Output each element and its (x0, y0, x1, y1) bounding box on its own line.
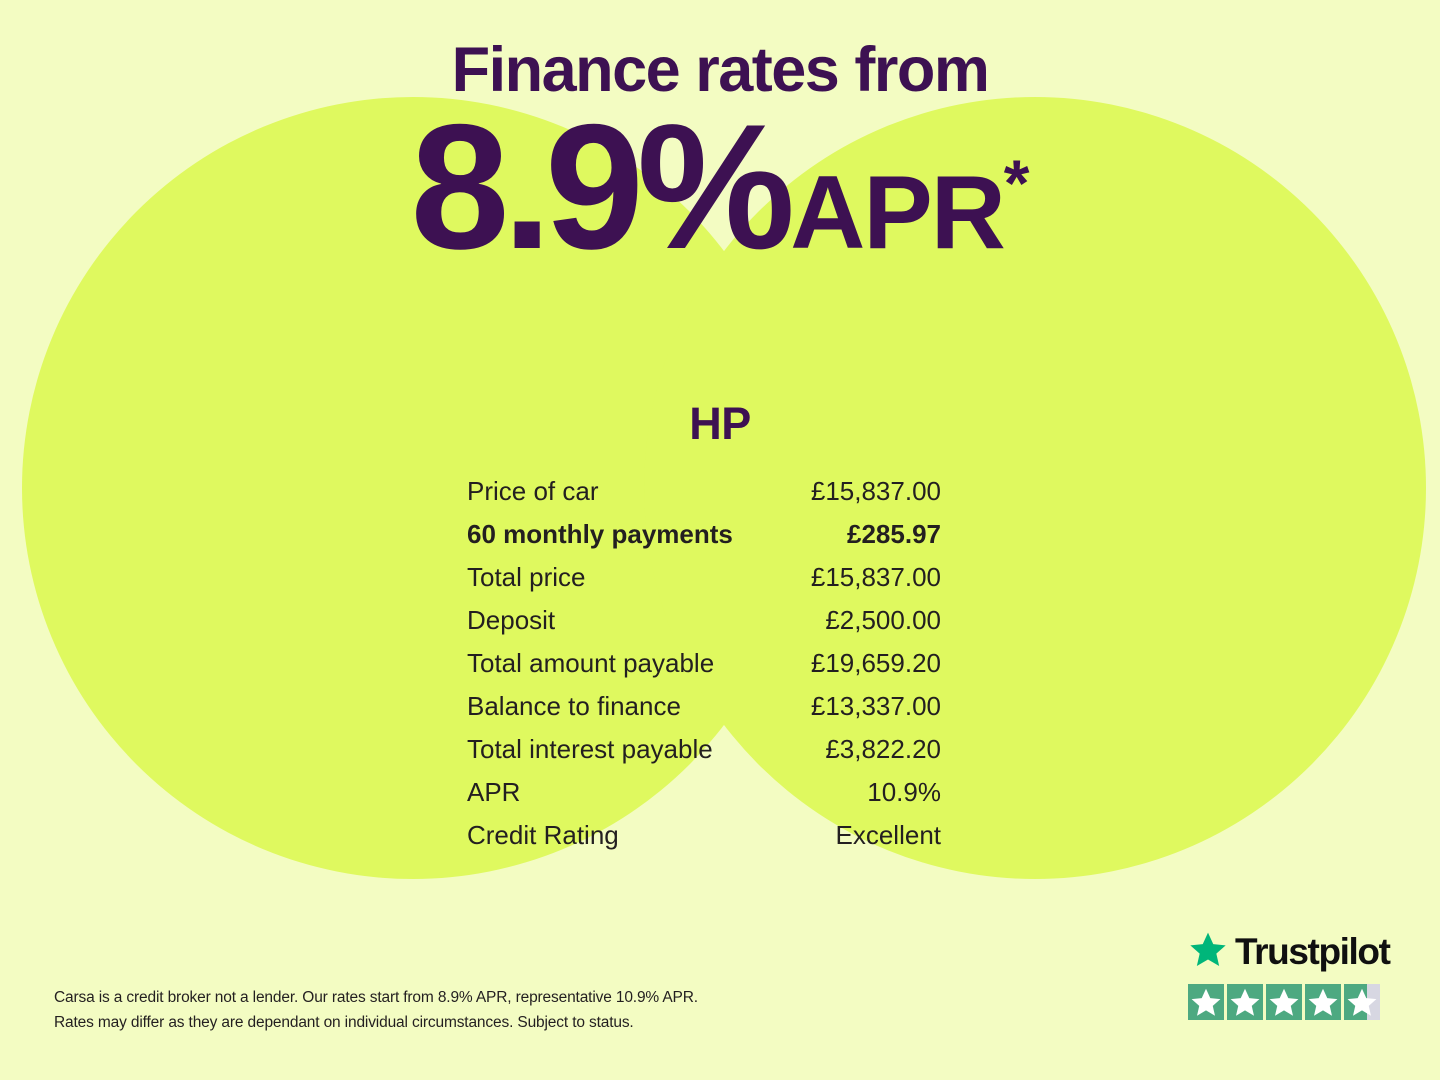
row-label: 60 monthly payments (467, 519, 733, 550)
row-value: £19,659.20 (811, 648, 941, 679)
star-icon (1188, 984, 1224, 1020)
page-title: HP (0, 398, 1440, 450)
row-value: £15,837.00 (811, 562, 941, 593)
row-label: Balance to finance (467, 691, 681, 722)
star-icon (1188, 930, 1228, 975)
star-icon (1266, 984, 1302, 1020)
row-value: £285.97 (847, 519, 941, 550)
promo-canvas: Finance rates from 8.9% APR * HP Price o… (0, 0, 1440, 1080)
table-row: Credit RatingExcellent (467, 820, 941, 863)
trustpilot-wordmark: Trustpilot (1235, 931, 1390, 973)
headline-rate-row: 8.9% APR * (0, 98, 1440, 276)
table-row: 60 monthly payments£285.97 (467, 519, 941, 562)
apr-rate-value: 8.9% (411, 98, 789, 276)
row-value: £13,337.00 (811, 691, 941, 722)
trustpilot-star-row (1188, 984, 1388, 1020)
row-label: Total price (467, 562, 586, 593)
row-label: Price of car (467, 476, 599, 507)
row-value: £2,500.00 (825, 605, 941, 636)
headline-block: Finance rates from 8.9% APR * (0, 0, 1440, 276)
table-row: APR10.9% (467, 777, 941, 820)
disclaimer-line-2: Rates may differ as they are dependant o… (54, 1010, 814, 1035)
row-value: £3,822.20 (825, 734, 941, 765)
star-icon (1227, 984, 1263, 1020)
table-row: Balance to finance£13,337.00 (467, 691, 941, 734)
disclaimer-text: Carsa is a credit broker not a lender. O… (54, 985, 814, 1035)
row-value: 10.9% (867, 777, 941, 808)
row-label: Deposit (467, 605, 555, 636)
apr-rate-unit: APR (790, 161, 1004, 265)
disclaimer-line-1: Carsa is a credit broker not a lender. O… (54, 985, 814, 1010)
row-value: £15,837.00 (811, 476, 941, 507)
table-row: Deposit£2,500.00 (467, 605, 941, 648)
row-value: Excellent (836, 820, 942, 851)
finance-breakdown-table: Price of car£15,837.0060 monthly payment… (467, 476, 941, 863)
apr-asterisk: * (1004, 150, 1030, 216)
table-row: Total amount payable£19,659.20 (467, 648, 941, 691)
row-label: Total interest payable (467, 734, 713, 765)
star-icon (1305, 984, 1341, 1020)
table-row: Price of car£15,837.00 (467, 476, 941, 519)
row-label: Total amount payable (467, 648, 714, 679)
row-label: Credit Rating (467, 820, 619, 851)
row-label: APR (467, 777, 520, 808)
table-row: Total interest payable£3,822.20 (467, 734, 941, 777)
table-row: Total price£15,837.00 (467, 562, 941, 605)
trustpilot-brand: Trustpilot (1188, 928, 1388, 976)
trustpilot-rating[interactable]: Trustpilot (1188, 928, 1388, 1020)
star-icon (1344, 984, 1380, 1020)
